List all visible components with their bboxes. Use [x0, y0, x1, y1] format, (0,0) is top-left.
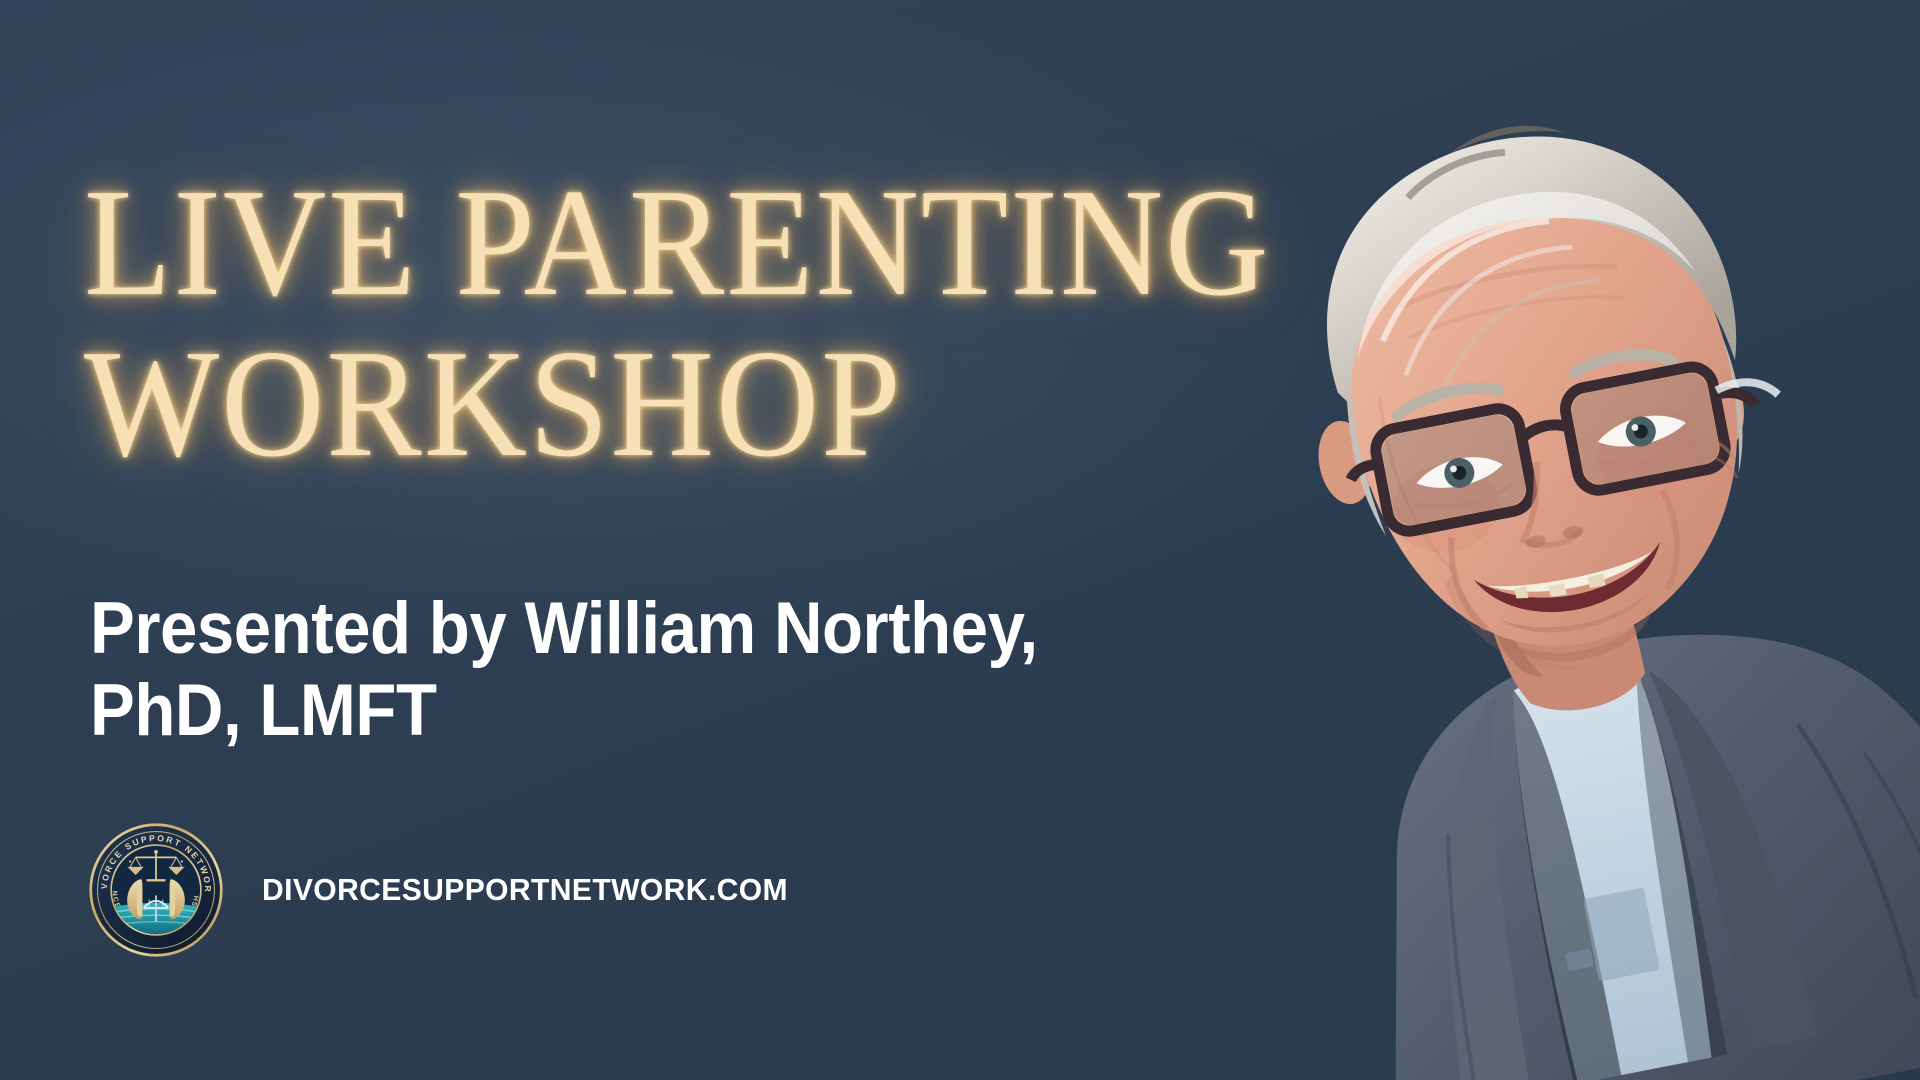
promo-graphic: LIVE PARENTING WORKSHOP Presented by Wil… — [0, 0, 1920, 1080]
subtitle: Presented by William Northey, PhD, LMFT — [90, 588, 1290, 752]
brand-footer: • DIVORCE SUPPORT NETWORK • • GUIDANCE, … — [88, 822, 804, 958]
divorce-support-network-logo-icon: • DIVORCE SUPPORT NETWORK • • GUIDANCE, … — [88, 822, 224, 958]
presenter-name: Presented by William Northey, PhD, LMFT — [90, 588, 1194, 752]
website-url[interactable]: DIVORCESUPPORTNETWORK.COM — [262, 872, 788, 908]
